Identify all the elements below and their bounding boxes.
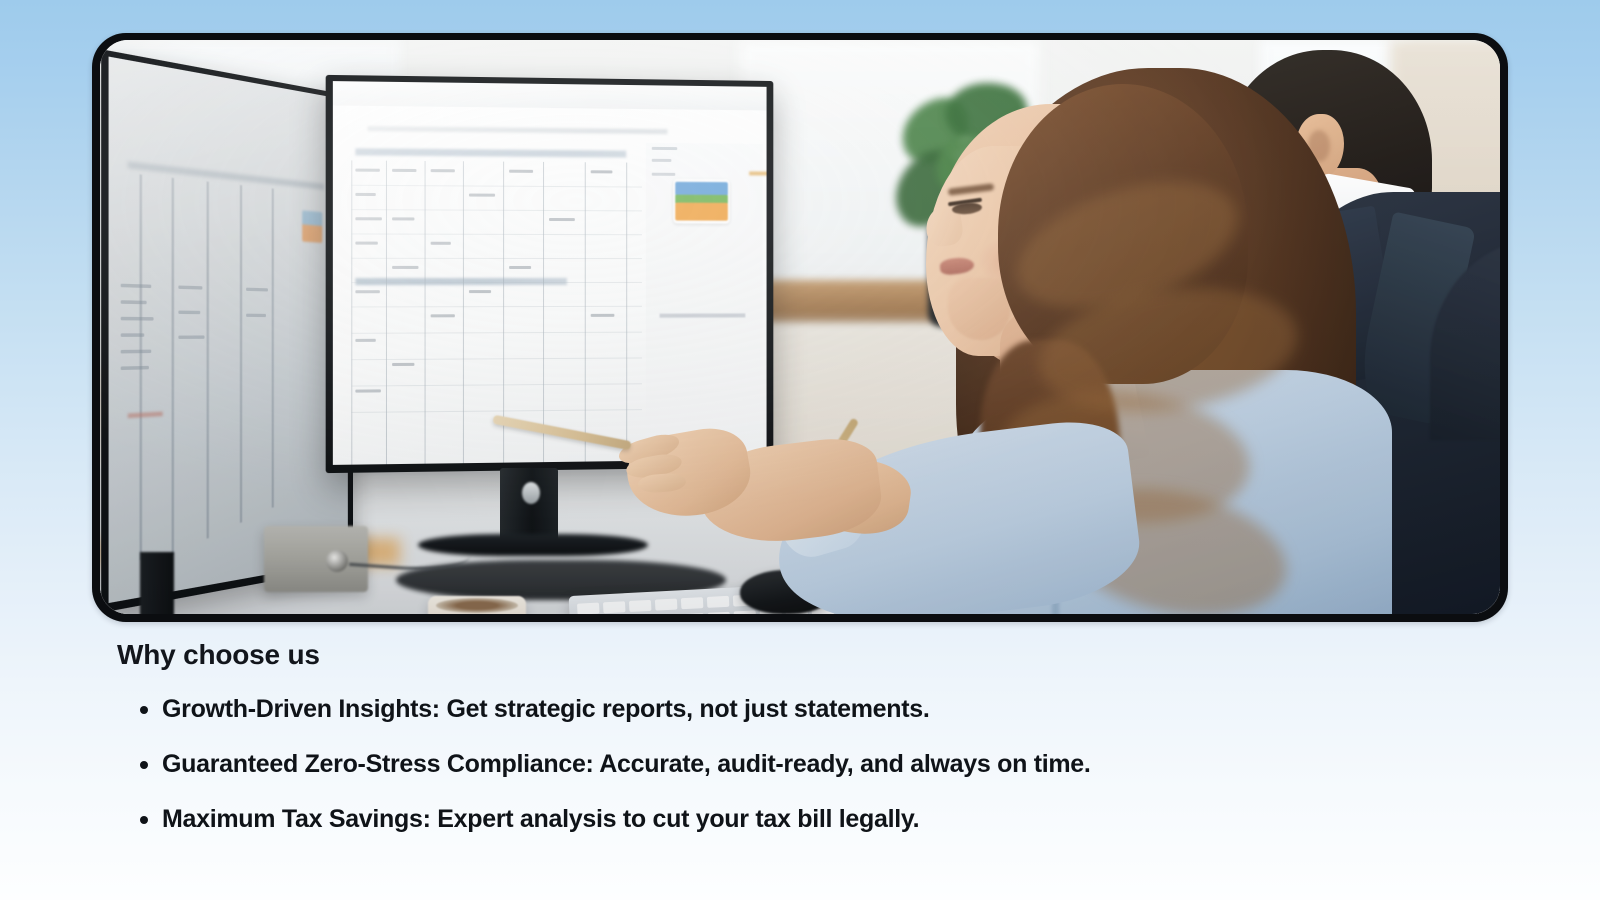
- spreadsheet-note-line: [660, 313, 746, 317]
- benefit-text: Guaranteed Zero-Stress Compliance: Accur…: [162, 750, 1091, 778]
- bullet-icon: [140, 761, 148, 769]
- center-monitor-screen: [333, 81, 767, 465]
- hero-image-frame: [92, 33, 1508, 622]
- hero-image: [100, 40, 1500, 614]
- center-monitor: [326, 75, 774, 473]
- chart-band-orange: [675, 203, 728, 221]
- left-monitor-screen: [109, 57, 348, 604]
- spreadsheet-area-chart-widget: [673, 179, 729, 224]
- list-item: Maximum Tax Savings: Expert analysis to …: [140, 804, 1600, 835]
- bullet-icon: [140, 706, 148, 714]
- benefits-list: Growth-Driven Insights: Get strategic re…: [140, 694, 1600, 836]
- list-item: Guaranteed Zero-Stress Compliance: Accur…: [140, 749, 1600, 780]
- screen-glare: [109, 57, 348, 604]
- woman-chin: [948, 278, 1010, 340]
- spreadsheet-header-row: [355, 148, 626, 157]
- coffee-cup: [428, 596, 526, 614]
- spreadsheet-amber-accent: [749, 171, 766, 175]
- office-scene: [100, 40, 1500, 614]
- benefit-text: Maximum Tax Savings: Expert analysis to …: [162, 805, 919, 833]
- why-choose-us-section: Why choose us Growth-Driven Insights: Ge…: [0, 638, 1600, 859]
- page-title: Why choose us: [117, 638, 1600, 672]
- spreadsheet-toolbar: [333, 81, 767, 110]
- bullet-icon: [140, 816, 148, 824]
- benefit-text: Growth-Driven Insights: Get strategic re…: [162, 695, 930, 723]
- center-monitor-neck: [500, 468, 558, 542]
- spreadsheet-tab-bar: [368, 126, 668, 134]
- list-item: Growth-Driven Insights: Get strategic re…: [140, 694, 1600, 725]
- left-monitor-stand: [140, 552, 174, 614]
